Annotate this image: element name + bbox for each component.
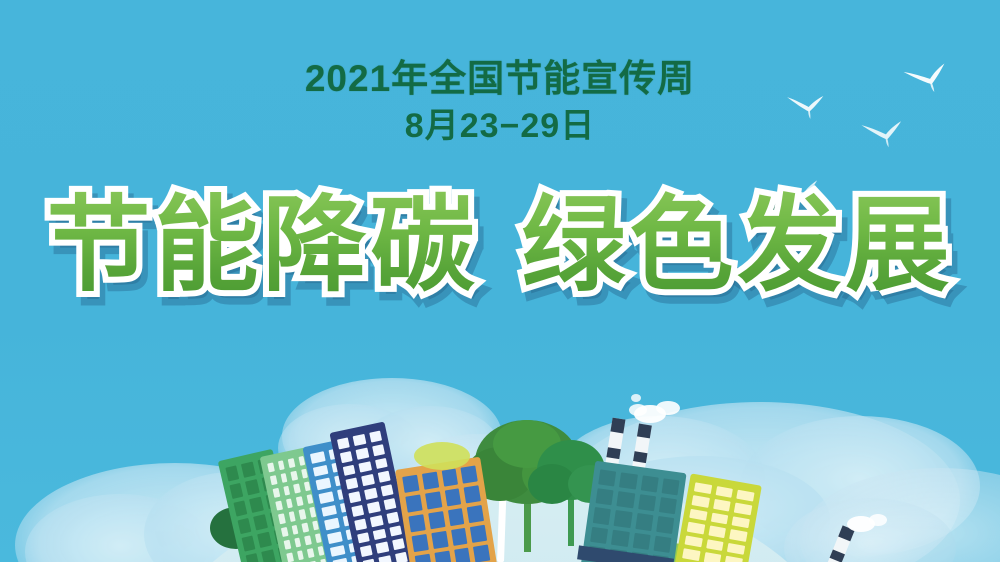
window [692,495,710,507]
window [238,518,252,534]
window [346,478,359,490]
window [316,478,331,490]
window [261,475,275,491]
window [249,497,263,513]
window [375,458,388,470]
window [715,486,733,498]
window [296,497,303,507]
window [694,482,712,494]
window [311,467,318,477]
window [273,488,280,498]
window [265,493,279,509]
cloud-right-edge [784,468,1000,562]
window [310,451,325,463]
window [286,499,293,509]
window [356,447,369,459]
window [293,484,300,494]
subtitle-line-2: 8月23−29日 [0,108,1000,145]
window [301,469,308,479]
window [372,444,385,456]
chimney-far-right-smoke [847,514,887,532]
window [362,474,375,486]
window [378,471,391,483]
window [314,479,321,489]
window [267,462,274,472]
headline-part-1: 节能降碳 节能降碳 节能降碳 [47,194,479,298]
subtitle-line-1: 2021年全国节能宣传周 [0,58,1000,99]
window [229,483,243,499]
window [661,478,679,495]
window [280,473,287,483]
window [359,461,372,473]
window [313,465,328,477]
chimney-right [629,424,652,487]
window [306,494,313,504]
window [353,434,366,446]
window [270,475,277,485]
window [331,461,346,473]
window [304,482,311,492]
window [245,479,259,495]
window [340,451,353,463]
window [334,474,349,486]
yellow-accent-patch [414,442,470,470]
window [369,431,382,443]
window [328,447,343,459]
window [233,500,247,516]
window [225,465,239,481]
window [737,490,755,502]
window [734,503,752,515]
window [337,437,350,449]
chimney-smoke [629,394,680,423]
window [278,460,285,470]
window [283,486,290,496]
window [288,458,295,468]
window [275,501,282,511]
window [257,458,271,474]
window [309,454,316,464]
headline-part-1-fill: 节能降碳 [47,188,479,304]
window [713,499,731,511]
headline-block: 节能降碳 节能降碳 节能降碳 绿色发展 绿色发展 绿色发展 [0,194,1000,298]
window [298,456,305,466]
window [291,471,298,481]
window [343,464,356,476]
headline-part-2: 绿色发展 绿色发展 绿色发展 [521,194,953,298]
poster-canvas: 2021年全国节能宣传周 8月23−29日 节能降碳 节能降碳 节能降碳 绿色发… [0,0,1000,562]
chimney-left [602,418,625,485]
window [241,462,255,478]
headline-part-2-fill: 绿色发展 [521,188,953,304]
subtitle-block: 2021年全国节能宣传周 8月23−29日 [0,58,1000,146]
chimney-far-right [828,525,855,562]
